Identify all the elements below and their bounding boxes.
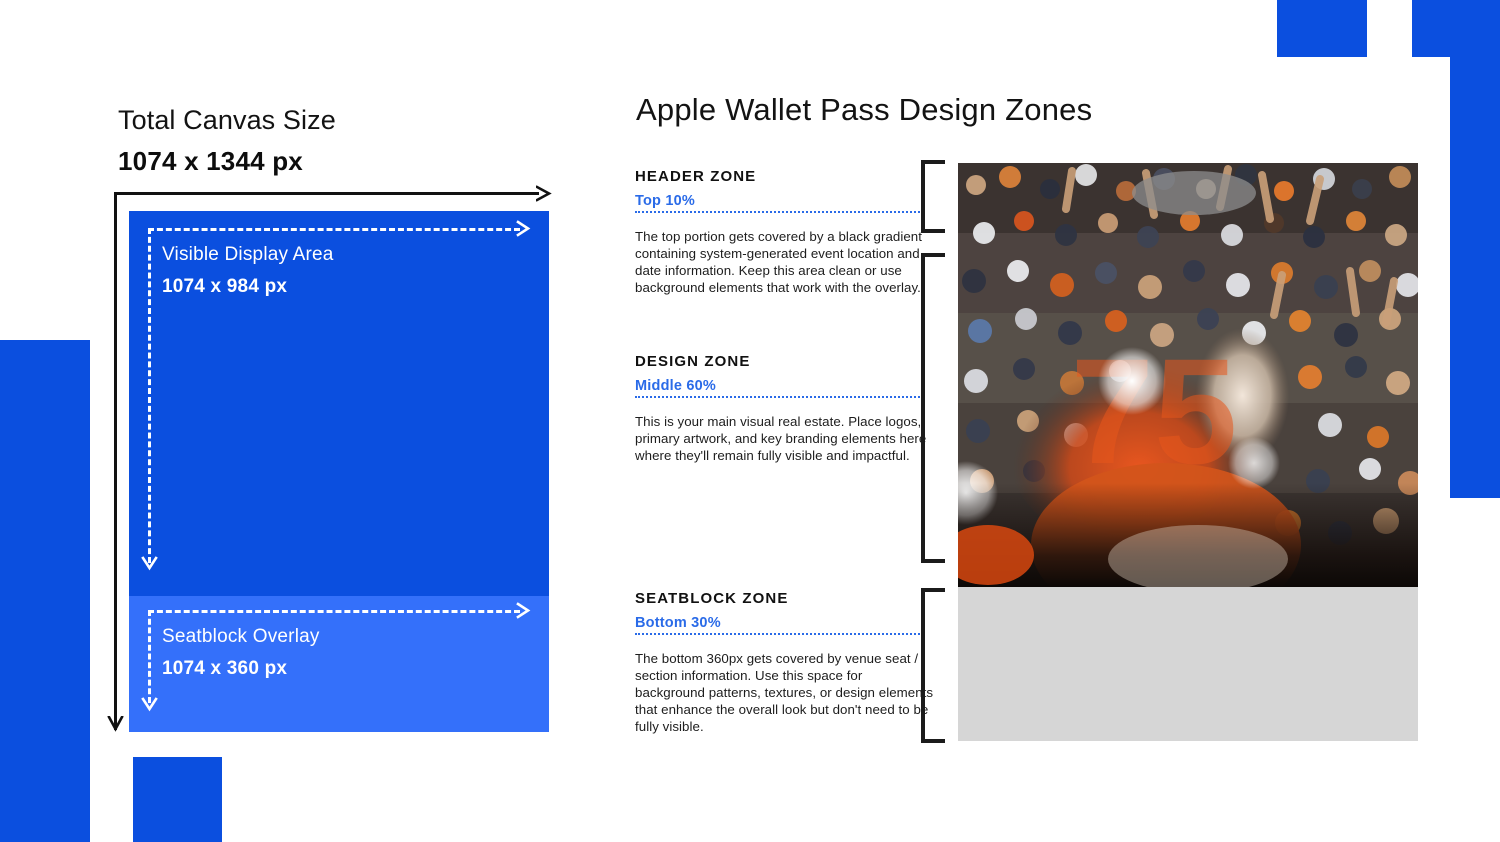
measure-line-top	[114, 192, 539, 195]
zone-header-name: HEADER ZONE	[635, 168, 935, 186]
stadium-crowd-photo: 75	[958, 163, 1418, 587]
visible-area-label: Visible Display Area	[162, 244, 334, 266]
measure-arrow-right-icon	[536, 185, 552, 202]
seatblock-height-guide	[148, 610, 151, 703]
visible-area-dimensions: 1074 x 984 px	[162, 276, 287, 298]
page-title: Apple Wallet Pass Design Zones	[636, 92, 1092, 128]
canvas-size-title: Total Canvas Size	[118, 105, 336, 136]
seatblock-overlay-dimensions: 1074 x 360 px	[162, 658, 287, 680]
canvas-size-diagram: Total Canvas Size 1074 x 1344 px Visible…	[0, 0, 600, 842]
bracket-seatblock-zone	[921, 588, 945, 743]
seatblock-width-chevron-icon	[516, 602, 532, 619]
pass-preview: 75	[958, 163, 1418, 741]
seatblock-zone-placeholder	[958, 587, 1418, 741]
zone-seatblock-name: SEATBLOCK ZONE	[635, 590, 935, 608]
zone-header-connector-line	[635, 211, 923, 213]
zone-block-seatblock: SEATBLOCK ZONE Bottom 30% The bottom 360…	[635, 590, 935, 735]
design-zones-panel: Apple Wallet Pass Design Zones HEADER ZO…	[600, 0, 1500, 842]
seatblock-width-guide	[148, 610, 520, 613]
measure-line-left	[114, 192, 117, 730]
zone-header-percent: Top 10%	[635, 193, 935, 210]
visible-area-width-chevron-icon	[516, 220, 532, 237]
bracket-header-zone	[921, 160, 945, 233]
visible-display-area-box	[129, 211, 549, 596]
canvas-size-dimensions: 1074 x 1344 px	[118, 146, 303, 177]
svg-text:75: 75	[1071, 327, 1238, 495]
zone-header-description: The top portion gets covered by a black …	[635, 228, 935, 296]
seatblock-overlay-label: Seatblock Overlay	[162, 626, 320, 648]
zone-seatblock-description: The bottom 360px gets covered by venue s…	[635, 650, 935, 735]
zone-block-design: DESIGN ZONE Middle 60% This is your main…	[635, 353, 935, 464]
measure-arrow-down-icon	[107, 716, 124, 732]
zone-seatblock-connector-line	[635, 633, 923, 635]
zone-seatblock-percent: Bottom 30%	[635, 615, 935, 632]
zone-block-header: HEADER ZONE Top 10% The top portion gets…	[635, 168, 935, 296]
visible-area-width-guide	[148, 228, 520, 231]
infographic-canvas: Total Canvas Size 1074 x 1344 px Visible…	[0, 0, 1500, 842]
seatblock-height-chevron-icon	[141, 697, 158, 713]
zone-design-description: This is your main visual real estate. Pl…	[635, 413, 935, 464]
zone-design-name: DESIGN ZONE	[635, 353, 935, 371]
zone-design-connector-line	[635, 396, 923, 398]
visible-area-height-chevron-icon	[141, 556, 158, 572]
bracket-design-zone	[921, 253, 945, 563]
zone-design-percent: Middle 60%	[635, 378, 935, 395]
visible-area-height-guide	[148, 228, 151, 563]
